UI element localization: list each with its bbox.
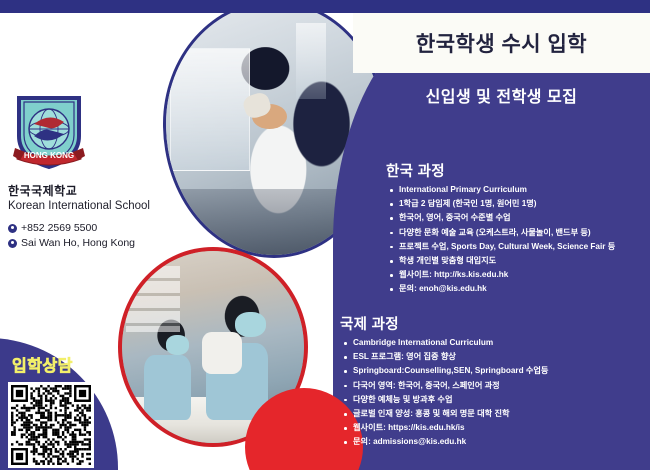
art-wall-frames: [126, 266, 181, 331]
art-student-mask-back: [166, 335, 190, 354]
curriculum-international: 국제 과정 Cambridge International Curriculum…: [340, 313, 648, 453]
contact-row-phone: +852 2569 5500: [8, 222, 135, 234]
qr-code-icon[interactable]: [8, 382, 94, 468]
list-item: 다국어 영역: 한국어, 중국어, 스페인어 과정: [340, 382, 648, 390]
art-student-mask-front: [235, 312, 266, 337]
curriculum-international-list: Cambridge International CurriculumESL 프로…: [340, 339, 648, 447]
school-name-english: Korean International School: [8, 200, 150, 212]
list-item: 웹사이트: http://ks.kis.edu.hk: [386, 271, 648, 279]
poster-subtitle-row: 신입생 및 전학생 모집: [353, 76, 650, 114]
list-item: 다양한 문화 예술 교육 (오케스트라, 사물놀이, 밴드부 등): [386, 229, 648, 237]
curriculum-korean-list: International Primary Curriculum1학급 2 담임…: [386, 186, 648, 294]
contact-location-text: Sai Wan Ho, Hong Kong: [21, 237, 135, 249]
list-item: 프로젝트 수업, Sports Day, Cultural Week, Scie…: [386, 243, 648, 251]
poster-title-band: 한국학생 수시 입학: [353, 13, 650, 73]
curriculum-international-heading: 국제 과정: [340, 313, 648, 334]
qr-label: 입학상담: [12, 352, 73, 376]
phone-icon: [8, 224, 17, 233]
top-accent-band: [0, 0, 650, 13]
art-student-shirt: [202, 332, 242, 374]
curriculum-korean: 한국 과정 International Primary Curriculum1학…: [386, 160, 648, 300]
qr-canvas: [11, 385, 91, 465]
list-item: 다양한 예체능 및 방과후 수업: [340, 396, 648, 404]
school-name-block: 한국국제학교 Korean International School: [8, 182, 150, 212]
list-item: 웹사이트: https://kis.edu.hk/is: [340, 424, 648, 432]
curriculum-korean-heading: 한국 과정: [386, 160, 648, 181]
school-crest-icon: HONG KONG: [11, 92, 87, 170]
list-item: 한국어, 영어, 중국어 수준별 수업: [386, 214, 648, 222]
crest-svg: HONG KONG: [11, 92, 87, 170]
list-item: 1학급 2 담임제 (한국인 1명, 원어민 1명): [386, 200, 648, 208]
page-subtitle: 신입생 및 전학생 모집: [426, 83, 578, 107]
contact-block: +852 2569 5500 Sai Wan Ho, Hong Kong: [8, 222, 135, 252]
list-item: Cambridge International Curriculum: [340, 339, 648, 347]
list-item: 글로벌 인재 양성: 홍콩 및 해외 명문 대학 진학: [340, 410, 648, 418]
list-item: Springboard:Counselling,SEN, Springboard…: [340, 367, 648, 375]
list-item: 문의: enoh@kis.edu.hk: [386, 285, 648, 293]
page-title: 한국학생 수시 입학: [416, 28, 587, 58]
lab-glass-cabinet: [170, 48, 250, 171]
admissions-poster: HONG KONG 한국국제학교 Korean International Sc…: [0, 0, 650, 470]
contact-row-location: Sai Wan Ho, Hong Kong: [8, 237, 135, 249]
location-pin-icon: [8, 239, 17, 248]
lab-equipment: [296, 23, 326, 99]
contact-phone-text: +852 2569 5500: [21, 222, 97, 234]
list-item: ESL 프로그램: 영어 집중 향상: [340, 353, 648, 361]
list-item: 학생 개인별 맞춤형 대입지도: [386, 257, 648, 265]
list-item: 문의: admissions@kis.edu.hk: [340, 438, 648, 446]
school-name-korean: 한국국제학교: [8, 182, 150, 199]
list-item: International Primary Curriculum: [386, 186, 648, 194]
art-student-apron-back: [144, 355, 191, 420]
svg-text:HONG KONG: HONG KONG: [24, 151, 74, 160]
